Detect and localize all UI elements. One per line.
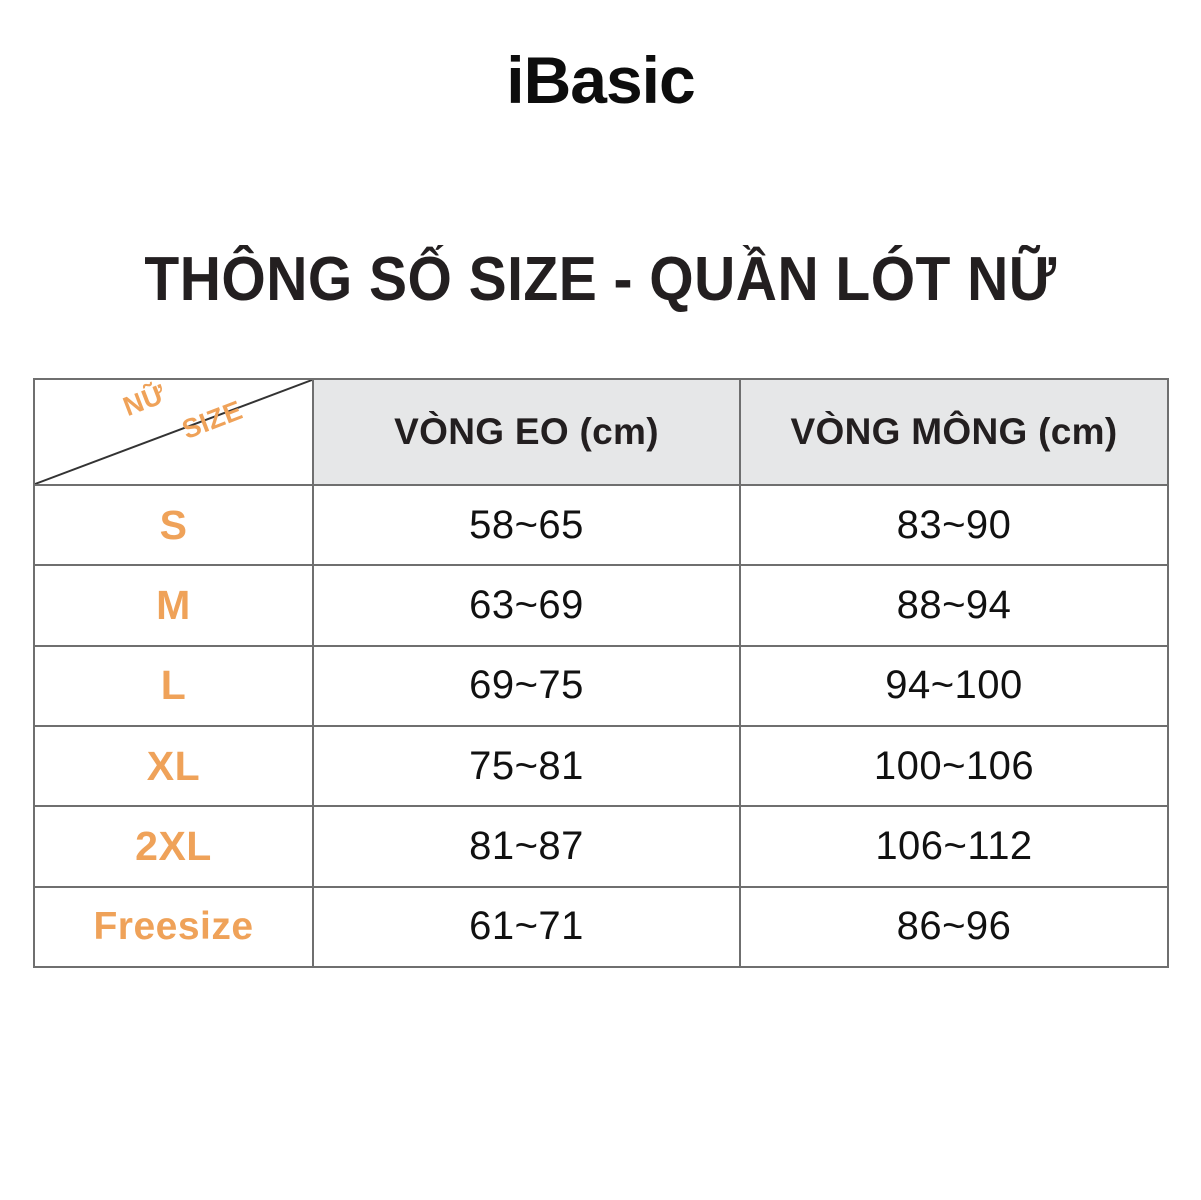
size-label: Freesize: [34, 887, 313, 967]
size-chart-table: NỮ SIZE VÒNG EO (cm) VÒNG MÔNG (cm) S 58…: [33, 378, 1169, 968]
column-header-waist: VÒNG EO (cm): [313, 379, 740, 485]
corner-header-cell: NỮ SIZE: [34, 379, 313, 485]
hip-value: 100~106: [740, 726, 1168, 806]
column-header-hip: VÒNG MÔNG (cm): [740, 379, 1168, 485]
waist-value: 63~69: [313, 565, 740, 645]
waist-value: 58~65: [313, 485, 740, 565]
table-body: S 58~65 83~90 M 63~69 88~94 L 69~75 94~1…: [34, 485, 1168, 967]
size-label: L: [34, 646, 313, 726]
hip-value: 106~112: [740, 806, 1168, 886]
table-header-row: NỮ SIZE VÒNG EO (cm) VÒNG MÔNG (cm): [34, 379, 1168, 485]
hip-value: 86~96: [740, 887, 1168, 967]
hip-value: 83~90: [740, 485, 1168, 565]
waist-value: 81~87: [313, 806, 740, 886]
table-row: L 69~75 94~100: [34, 646, 1168, 726]
size-chart-container: NỮ SIZE VÒNG EO (cm) VÒNG MÔNG (cm) S 58…: [33, 378, 1167, 968]
diagonal-divider-icon: [35, 380, 312, 484]
table-row: XL 75~81 100~106: [34, 726, 1168, 806]
corner-inner: NỮ SIZE: [35, 380, 312, 484]
brand-logo: iBasic: [0, 44, 1201, 116]
table-row: 2XL 81~87 106~112: [34, 806, 1168, 886]
waist-value: 61~71: [313, 887, 740, 967]
table-row: Freesize 61~71 86~96: [34, 887, 1168, 967]
size-label: XL: [34, 726, 313, 806]
waist-value: 69~75: [313, 646, 740, 726]
table-row: S 58~65 83~90: [34, 485, 1168, 565]
size-label: M: [34, 565, 313, 645]
size-label: S: [34, 485, 313, 565]
hip-value: 94~100: [740, 646, 1168, 726]
hip-value: 88~94: [740, 565, 1168, 645]
waist-value: 75~81: [313, 726, 740, 806]
size-label: 2XL: [34, 806, 313, 886]
table-row: M 63~69 88~94: [34, 565, 1168, 645]
page-title: THÔNG SỐ SIZE - QUẦN LÓT NỮ: [48, 243, 1153, 317]
